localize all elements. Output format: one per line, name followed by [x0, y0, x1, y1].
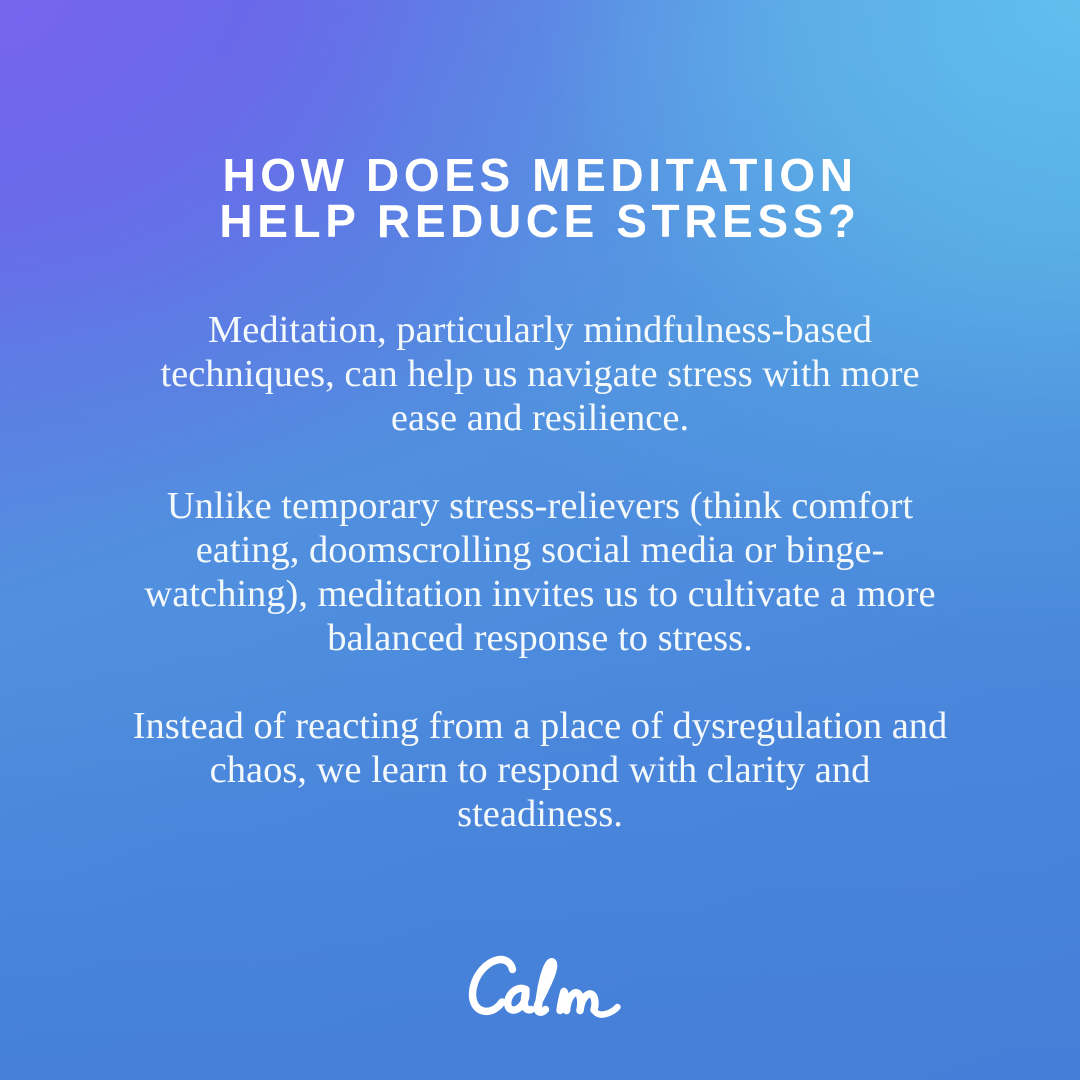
- content-card: HOW DOES MEDITATION HELP REDUCE STRESS? …: [0, 0, 1080, 1080]
- paragraph-1: Meditation, particularly mindfulness-bas…: [127, 308, 953, 440]
- body-copy: Meditation, particularly mindfulness-bas…: [127, 308, 953, 836]
- paragraph-3: Instead of reacting from a place of dysr…: [127, 704, 953, 836]
- page-title: HOW DOES MEDITATION HELP REDUCE STRESS?: [120, 152, 960, 244]
- paragraph-2: Unlike temporary stress-relievers (think…: [127, 484, 953, 660]
- brand-logo: [0, 950, 1080, 1028]
- calm-logo-icon: [456, 950, 624, 1028]
